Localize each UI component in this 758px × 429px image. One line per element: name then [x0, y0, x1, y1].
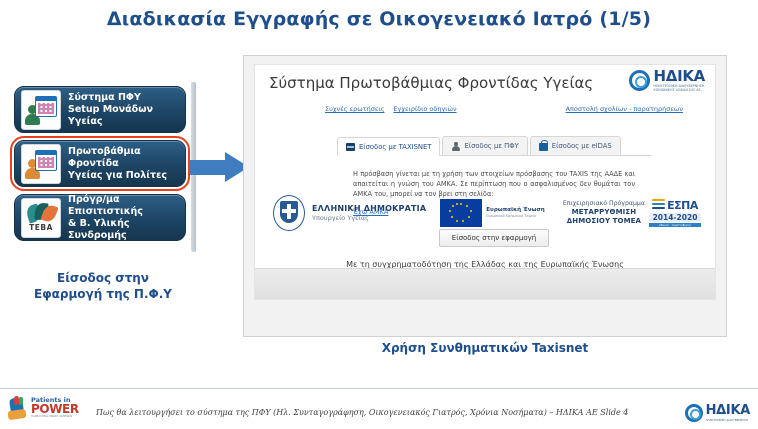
link-faq[interactable]: Συχνές ερωτήσεις	[325, 105, 384, 113]
left-caption: Είσοδος στην Εφαρμογή της Π.Φ.Υ	[12, 270, 194, 302]
slide: Διαδικασία Εγγραφής σε Οικογενειακό Ιατρ…	[0, 0, 758, 429]
ministry-label: Υπουργείο Υγείας	[312, 215, 426, 222]
espa-years: 2014-2020	[649, 213, 701, 222]
hdika-wordmark: ΗΔΙΚΑ	[654, 69, 705, 84]
footer-hdika-logo: ΗΔΙΚΑ ΗΛΕΚΤΡΟΝΙΚΗ ΔΙΑΚΥΒΕΡΝΗΣΗ	[685, 403, 750, 422]
page-title: Διαδικασία Εγγραφής σε Οικογενειακό Ιατρ…	[0, 8, 758, 30]
sidebar-item-label: Πρωτοβάθμια Φροντίδα Υγείας για Πολίτες	[68, 146, 179, 182]
pip-line2: POWER	[31, 403, 79, 415]
hdika-ring-icon	[685, 404, 703, 422]
sidebar-item-pfy-citizens[interactable]: Πρωτοβάθμια Φροντίδα Υγείας για Πολίτες	[14, 140, 186, 187]
op-program-label: Επιχειρησιακό Πρόγραμμα	[559, 200, 649, 208]
hdika-ring-icon	[629, 70, 650, 91]
tab-eidas[interactable]: Είσοδος με eIDAS	[530, 136, 621, 155]
tab-taxisnet-label: Είσοδος με TAXISNET	[359, 143, 431, 151]
sidebar-label-line2: & Β. Υλικής Συνδρομής	[68, 218, 179, 242]
sidebar-label-line1: Πρόγρ/μα Επισιτιστικής	[68, 194, 179, 218]
app-screenshot-card: Σύστημα Πρωτοβάθμιας Φροντίδας Υγείας ΗΔ…	[243, 55, 727, 337]
link-manual[interactable]: Εγχειρίδιο οδηγιών	[393, 105, 456, 113]
sidebar-item-setup[interactable]: Σύστημα ΠΦΥ Setup Μονάδων Υγείας	[14, 86, 186, 133]
institutional-logos: ΕΛΛΗΝΙΚΗ ΔΗΜΟΚΡΑΤΙΑ Υπουργείο Υγείας	[265, 191, 705, 235]
patients-in-power-logo: Patients in POWER ΠΑΝΕΛΛΗΝΙΑ ΕΝΩΣΗ ΑΣΘΕΝ…	[8, 393, 82, 423]
right-caption: Χρήση Συνθηματικών Taxisnet	[243, 341, 727, 355]
person-calendar-icon	[21, 90, 61, 130]
teba-label: TEBA	[29, 223, 53, 232]
app-window: Σύστημα Πρωτοβάθμιας Φροντίδας Υγείας ΗΔ…	[254, 64, 716, 300]
teba-leaves-icon: TEBA	[21, 198, 61, 238]
espa-logo: ΕΣΠΑ 2014-2020 εθνικό - αναπτυξιακό	[649, 199, 701, 227]
app-links-row: Συχνές ερωτήσεις Εγχειρίδιο οδηγιών Αποσ…	[255, 105, 715, 121]
app-header: Σύστημα Πρωτοβάθμιας Φροντίδας Υγείας ΗΔ…	[255, 65, 715, 105]
app-bottom-bar	[255, 268, 715, 299]
sidebar-item-label: Πρόγρ/μα Επισιτιστικής & Β. Υλικής Συνδρ…	[68, 194, 179, 242]
sidebar-item-label: Σύστημα ΠΦΥ Setup Μονάδων Υγείας	[68, 92, 179, 128]
op-program-name: ΜΕΤΑΡΡΥΘΜΙΣΗ ΔΗΜΟΣΙΟΥ ΤΟΜΕΑ	[559, 208, 649, 226]
hdika-sub-line2: ΚΟΙΝΩΝΙΚΗΣ ΑΣΦΑΛΙΣΗΣ ΑΕ.	[654, 89, 705, 92]
slide-footer-note: Πως θα λειτουργήσει το σύστημα της ΠΦΥ (…	[96, 408, 648, 417]
greece-label: ΕΛΛΗΝΙΚΗ ΔΗΜΟΚΡΑΤΙΑ	[312, 204, 426, 213]
tab-pfy-label: Είσοδος με ΠΦΥ	[464, 142, 518, 150]
greek-coat-of-arms-icon	[273, 195, 305, 231]
footer-hdika-sub: ΗΛΕΚΤΡΟΝΙΚΗ ΔΙΑΚΥΒΕΡΝΗΣΗ	[706, 418, 750, 422]
espa-subtitle: εθνικό - αναπτυξιακό	[649, 223, 701, 227]
espa-waves-icon	[652, 199, 665, 212]
eu-label: Ευρωπαϊκή Ένωση	[486, 207, 545, 213]
footer-divider	[0, 388, 758, 389]
sidebar-label-line2: Setup Μονάδων Υγείας	[68, 104, 179, 128]
hdika-logo: ΗΔΙΚΑ ΗΛΕΚΤΡΟΝΙΚΗ ΔΙΑΚΥΒΕΡΝΗΣΗ ΚΟΙΝΩΝΙΚΗ…	[629, 69, 705, 92]
login-tabs: Είσοδος με TAXISNET Είσοδος με ΠΦΥ Είσοδ…	[337, 135, 651, 156]
left-caption-line2: Εφαρμογή της Π.Φ.Υ	[12, 286, 194, 302]
left-caption-line1: Είσοδος στην	[12, 270, 194, 286]
tab-eidas-label: Είσοδος με eIDAS	[552, 142, 612, 150]
link-feedback[interactable]: Αποστολή σχολίων - παρατηρήσεων	[566, 105, 683, 113]
fist-icon	[8, 396, 28, 420]
footer-hdika-wordmark: ΗΔΙΚΑ	[706, 403, 750, 418]
user-icon	[451, 142, 460, 150]
espa-wordmark: ΕΣΠΑ	[667, 199, 698, 212]
sidebar-item-teba[interactable]: TEBA Πρόγρ/μα Επισιτιστικής & Β. Υλικής …	[14, 194, 186, 241]
sidebar-label-line1: Πρωτοβάθμια Φροντίδα	[68, 146, 179, 170]
taxisnet-icon	[346, 143, 355, 151]
sidebar: Σύστημα ΠΦΥ Setup Μονάδων Υγείας Πρωτοβά…	[14, 86, 186, 241]
flow-arrow-icon	[189, 152, 251, 182]
app-title: Σύστημα Πρωτοβάθμιας Φροντίδας Υγείας	[269, 74, 593, 92]
pip-line3: ΠΑΝΕΛΛΗΝΙΑ ΕΝΩΣΗ ΑΣΘΕΝΩΝ	[31, 416, 79, 419]
sidebar-label-line2: Υγείας για Πολίτες	[68, 170, 179, 182]
eu-flag-icon	[440, 199, 482, 227]
eu-fund-label: Ευρωπαϊκό Κοινωνικό Ταμείο	[486, 215, 545, 219]
tab-taxisnet[interactable]: Είσοδος με TAXISNET	[337, 137, 440, 156]
person-calendar-icon	[21, 144, 61, 184]
tab-pfy[interactable]: Είσοδος με ΠΦΥ	[442, 136, 527, 155]
lock-icon	[539, 143, 548, 151]
sidebar-label-line1: Σύστημα ΠΦΥ	[68, 92, 179, 104]
